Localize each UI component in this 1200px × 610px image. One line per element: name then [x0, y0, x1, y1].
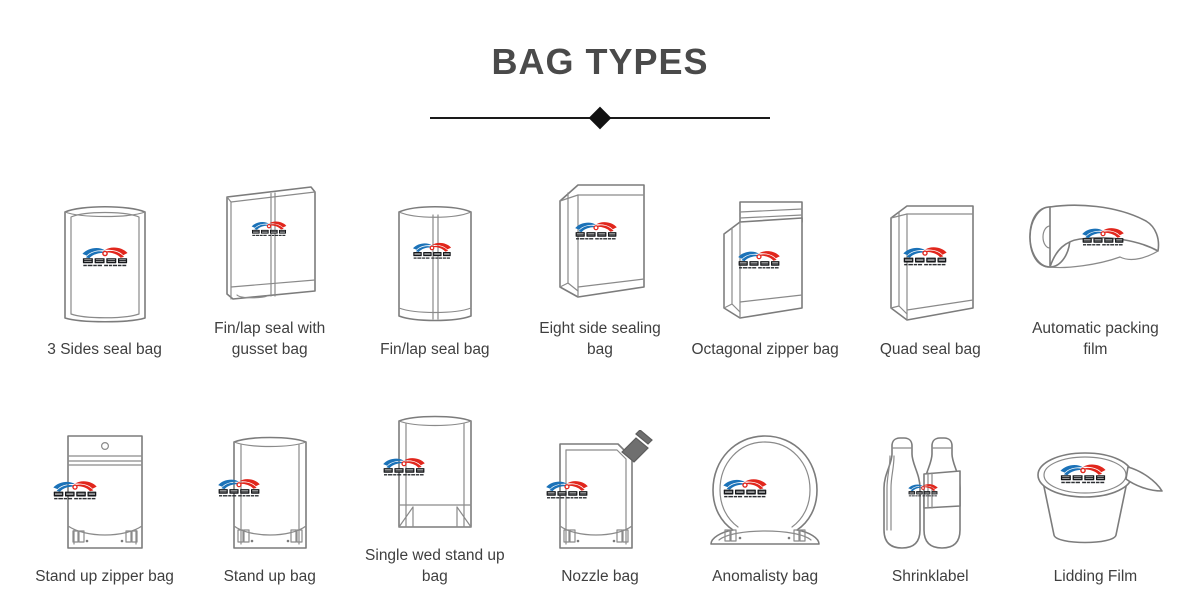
- hongyue-print-logo: [735, 248, 783, 271]
- bag-card-stand-up-zipper[interactable]: Stand up zipper bag: [22, 430, 187, 587]
- bag-card-automatic-packing-film[interactable]: Automatic packing film: [1013, 181, 1178, 360]
- hongyue-print-logo: [410, 240, 454, 261]
- hongyue-print-logo: [900, 244, 950, 268]
- bag-card-quad-seal[interactable]: Quad seal bag: [848, 196, 1013, 360]
- bag-card-label: Single wed stand up bag: [360, 546, 510, 587]
- bag-card-label: Anomalisty bag: [712, 567, 818, 587]
- hongyue-print-logo: [720, 476, 770, 500]
- bag-card-fin-lap-gusset[interactable]: Fin/lap seal with gusset bag: [187, 175, 352, 360]
- hongyue-print-logo: [906, 482, 940, 498]
- bag-card-shrinklabel[interactable]: Shrinklabel: [848, 430, 1013, 587]
- hongyue-print-logo: [50, 478, 100, 502]
- page-header: BAG TYPES: [0, 0, 1200, 130]
- bag-card-label: Automatic packing film: [1020, 319, 1170, 360]
- bag-type-row-2: Stand up zipper bag: [0, 372, 1200, 587]
- bag-card-three-side-seal[interactable]: 3 Sides seal bag: [22, 196, 187, 360]
- hongyue-print-logo: [543, 478, 591, 501]
- page-title: BAG TYPES: [0, 44, 1200, 80]
- lidding-film-cup-illustration: [1020, 439, 1170, 555]
- bag-card-lidding-film[interactable]: Lidding Film: [1013, 439, 1178, 587]
- bag-card-label: Octagonal zipper bag: [691, 340, 838, 360]
- bag-card-label: Lidding Film: [1054, 567, 1138, 587]
- bag-card-eight-side-sealing[interactable]: Eight side sealing bag: [517, 175, 682, 360]
- bag-card-label: Shrinklabel: [892, 567, 969, 587]
- hongyue-print-logo: [380, 455, 428, 478]
- hongyue-print-logo: [572, 219, 620, 242]
- bag-card-label: Fin/lap seal bag: [380, 340, 489, 360]
- bag-types-infographic: BAG TYPES 3 Sides seal bag: [0, 0, 1200, 610]
- hongyue-print-logo: [215, 476, 263, 499]
- bag-card-label: Quad seal bag: [880, 340, 981, 360]
- bag-card-label: Fin/lap seal with gusset bag: [195, 319, 345, 360]
- diamond-icon: [589, 107, 612, 130]
- hongyue-print-logo: [1079, 225, 1127, 248]
- bag-card-nozzle[interactable]: Nozzle bag: [517, 430, 682, 587]
- bag-card-label: Eight side sealing bag: [525, 319, 675, 360]
- hongyue-print-logo: [79, 244, 131, 269]
- bag-card-stand-up[interactable]: Stand up bag: [187, 430, 352, 587]
- bag-card-anomalisty[interactable]: Anomalisty bag: [683, 430, 848, 587]
- fin-lap-seal-bag-illustration: [381, 196, 489, 326]
- bag-card-fin-lap-seal[interactable]: Fin/lap seal bag: [352, 196, 517, 360]
- hongyue-print-logo: [1057, 461, 1109, 486]
- bag-card-octagonal-zipper[interactable]: Octagonal zipper bag: [683, 196, 848, 360]
- bag-card-label: Stand up bag: [224, 567, 316, 587]
- bag-type-row-1: 3 Sides seal bag Fin/lap seal with gusse…: [0, 160, 1200, 360]
- bag-type-grid: 3 Sides seal bag Fin/lap seal with gusse…: [0, 160, 1200, 587]
- hongyue-print-logo: [249, 219, 289, 238]
- title-divider: [430, 106, 770, 130]
- bag-card-single-wed-stand-up[interactable]: Single wed stand up bag: [352, 409, 517, 587]
- fin-lap-seal-gusset-bag-illustration: [211, 175, 329, 305]
- bag-card-label: Stand up zipper bag: [35, 567, 174, 587]
- bag-card-label: 3 Sides seal bag: [47, 340, 162, 360]
- bag-card-label: Nozzle bag: [561, 567, 639, 587]
